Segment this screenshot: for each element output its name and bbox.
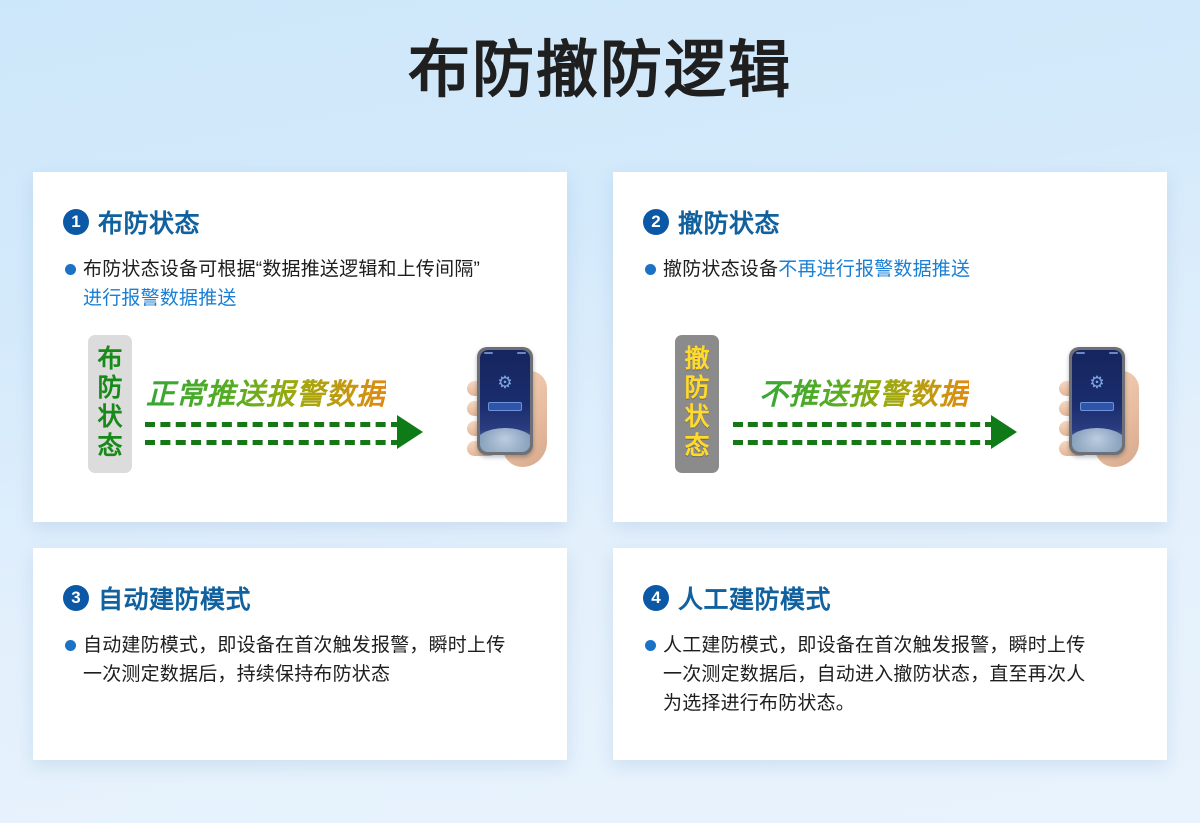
description-line: 一次测定数据后，持续保持布防状态 (83, 664, 390, 685)
arrow-dash-upper (733, 422, 995, 427)
card-header: 3 自动建防模式 (33, 548, 567, 616)
state-label-disarmed: 撤 防 状 态 (675, 335, 719, 473)
card-description: 自动建防模式，即设备在首次触发报警，瞬时上传 一次测定数据后，持续保持布防状态 (83, 632, 505, 690)
arrow-dash-lower (145, 440, 401, 445)
description-line: 为选择进行布防状态。 (663, 693, 855, 714)
card-body: 撤防状态设备不再进行报警数据推送 (613, 240, 1167, 285)
globe-graphic (1072, 428, 1122, 452)
state-label-char: 态 (88, 432, 132, 461)
description-highlight: 不再进行报警数据推送 (778, 259, 970, 280)
card-armed-state: 1 布防状态 布防状态设备可根据“数据推送逻辑和上传间隔” 进行报警数据推送 布… (33, 172, 567, 522)
description-plain: 布防状态设备可根据“数据推送逻辑和上传间隔” (83, 259, 480, 280)
card-number-badge: 3 (63, 585, 89, 611)
card-disarmed-state: 2 撤防状态 撤防状态设备不再进行报警数据推送 撤 防 状 态 不推送报警数据 (613, 172, 1167, 522)
state-label-char: 防 (88, 374, 132, 403)
app-button (488, 402, 522, 411)
phone-screen: ⚙ (1072, 350, 1122, 452)
card-description: 人工建防模式，即设备在首次触发报警，瞬时上传 一次测定数据后，自动进入撤防状态，… (663, 632, 1085, 719)
card-title: 撤防状态 (678, 204, 780, 240)
card-auto-arming-mode: 3 自动建防模式 自动建防模式，即设备在首次触发报警，瞬时上传 一次测定数据后，… (33, 548, 567, 760)
phone-statusbar (484, 352, 526, 355)
flow-diagram-disarmed: 撤 防 状 态 不推送报警数据 ⚙ (613, 327, 1167, 507)
arrow-dash-upper (145, 422, 401, 427)
flow-arrow-armed (145, 415, 445, 451)
phone-device: ⚙ (477, 347, 533, 455)
flow-label-armed: 正常推送报警数据 (146, 371, 386, 413)
globe-graphic (480, 428, 530, 452)
arrow-dash-lower (733, 440, 995, 445)
state-label-char: 状 (675, 403, 719, 432)
card-manual-arming-mode: 4 人工建防模式 人工建防模式，即设备在首次触发报警，瞬时上传 一次测定数据后，… (613, 548, 1167, 760)
card-description: 撤防状态设备不再进行报警数据推送 (663, 256, 970, 285)
card-header: 2 撤防状态 (613, 172, 1167, 240)
card-title: 布防状态 (98, 204, 200, 240)
card-header: 1 布防状态 (33, 172, 567, 240)
card-number-badge: 2 (643, 209, 669, 235)
bullet-icon (65, 640, 76, 651)
description-line: 自动建防模式，即设备在首次触发报警，瞬时上传 (83, 635, 505, 656)
arrow-head (397, 415, 423, 449)
state-label-char: 状 (88, 403, 132, 432)
card-number-badge: 4 (643, 585, 669, 611)
state-label-char: 态 (675, 432, 719, 461)
phone-illustration-armed: ⚙ (461, 347, 561, 477)
bullet-icon (645, 640, 656, 651)
card-header: 4 人工建防模式 (613, 548, 1167, 616)
card-body: 人工建防模式，即设备在首次触发报警，瞬时上传 一次测定数据后，自动进入撤防状态，… (613, 616, 1167, 719)
bullet-icon (65, 264, 76, 275)
flow-arrow-disarmed (733, 415, 1033, 451)
card-description: 布防状态设备可根据“数据推送逻辑和上传间隔” 进行报警数据推送 (83, 256, 480, 314)
state-label-armed: 布 防 状 态 (88, 335, 132, 473)
phone-device: ⚙ (1069, 347, 1125, 455)
phone-screen: ⚙ (480, 350, 530, 452)
card-body: 布防状态设备可根据“数据推送逻辑和上传间隔” 进行报警数据推送 (33, 240, 567, 314)
description-line: 一次测定数据后，自动进入撤防状态，直至再次人 (663, 664, 1085, 685)
app-icon: ⚙ (497, 374, 512, 391)
phone-illustration-disarmed: ⚙ (1053, 347, 1153, 477)
description-highlight: 进行报警数据推送 (83, 288, 237, 309)
bullet-icon (645, 264, 656, 275)
app-icon: ⚙ (1089, 374, 1104, 391)
card-body: 自动建防模式，即设备在首次触发报警，瞬时上传 一次测定数据后，持续保持布防状态 (33, 616, 567, 690)
card-number-badge: 1 (63, 209, 89, 235)
description-line: 人工建防模式，即设备在首次触发报警，瞬时上传 (663, 635, 1085, 656)
page-title: 布防撤防逻辑 (0, 38, 1200, 105)
description-plain: 撤防状态设备 (663, 259, 778, 280)
card-title: 自动建防模式 (98, 580, 251, 616)
card-title: 人工建防模式 (678, 580, 831, 616)
flow-label-disarmed: 不推送报警数据 (759, 371, 969, 413)
arrow-head (991, 415, 1017, 449)
state-label-char: 布 (88, 345, 132, 374)
app-button (1080, 402, 1114, 411)
state-label-char: 撤 (675, 345, 719, 374)
flow-diagram-armed: 布 防 状 态 正常推送报警数据 ⚙ (33, 327, 567, 507)
phone-statusbar (1076, 352, 1118, 355)
state-label-char: 防 (675, 374, 719, 403)
